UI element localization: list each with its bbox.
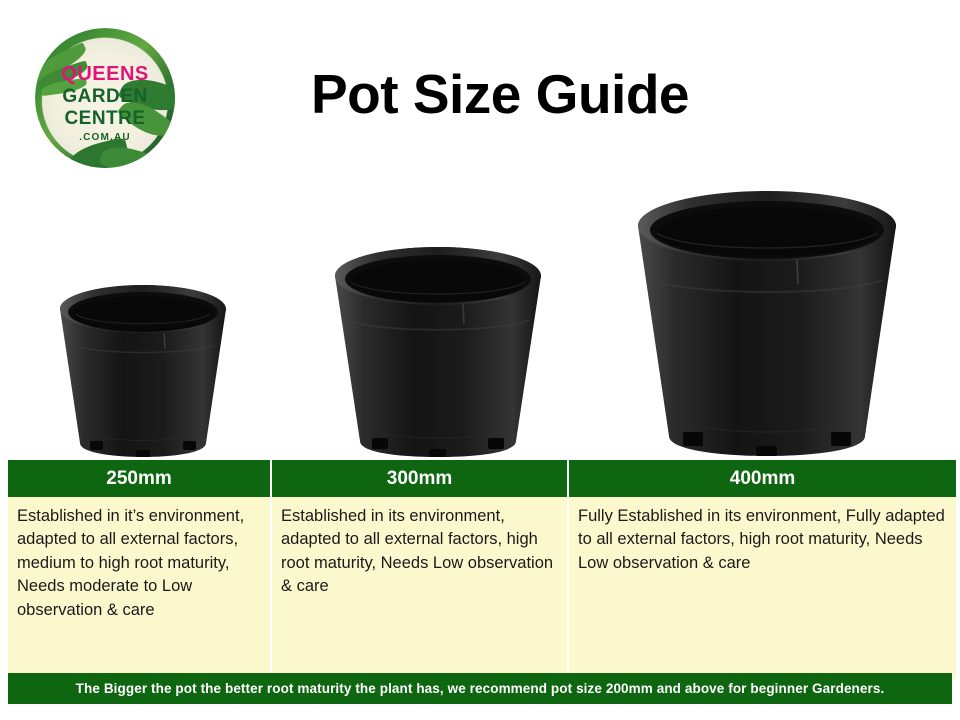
logo-line-domain: .COM.AU — [35, 133, 175, 143]
table-header-400mm: 400mm — [568, 460, 956, 497]
brand-logo: QUEENS GARDEN CENTRE .COM.AU — [35, 28, 175, 168]
footer-note-banner: The Bigger the pot the better root matur… — [8, 673, 952, 704]
pot-image-300mm — [327, 244, 549, 460]
table-header-row: 250mm 300mm 400mm — [8, 460, 956, 497]
logo-line-centre: CENTRE — [35, 109, 175, 128]
table-header-300mm: 300mm — [271, 460, 568, 497]
table-cell-description-400mm: Fully Established in its environment, Fu… — [568, 497, 956, 679]
logo-wordmark: QUEENS GARDEN CENTRE .COM.AU — [35, 64, 175, 143]
table-row: Established in it’s environment, adapted… — [8, 497, 956, 679]
pot-size-table: 250mm 300mm 400mm Established in it’s en… — [8, 460, 956, 679]
table-header-250mm: 250mm — [8, 460, 271, 497]
page-title: Pot Size Guide — [285, 62, 715, 126]
footer-note-text: The Bigger the pot the better root matur… — [76, 681, 885, 696]
table-cell-description-300mm: Established in its environment, adapted … — [271, 497, 568, 679]
pot-image-400mm — [629, 188, 905, 460]
logo-line-queens: QUEENS — [35, 64, 175, 84]
logo-line-garden: GARDEN — [35, 87, 175, 106]
pot-image-250mm — [52, 283, 234, 459]
table-cell-description-250mm: Established in it’s environment, adapted… — [8, 497, 271, 679]
